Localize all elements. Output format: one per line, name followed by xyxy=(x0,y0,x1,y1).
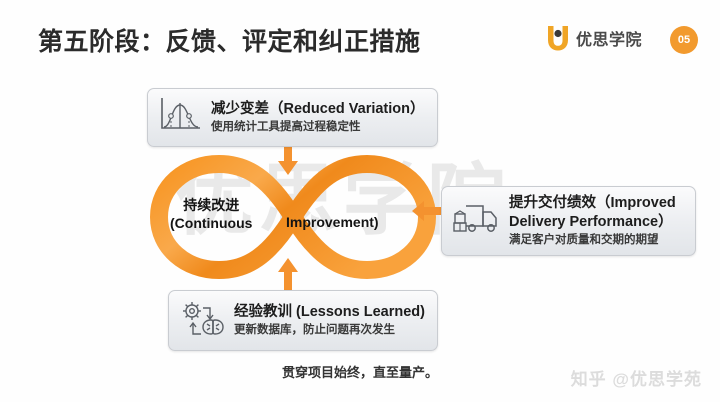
info-box-lessons-learned[interactable]: 经验教训 (Lessons Learned) 更新数据库，防止问题再次发生 xyxy=(168,290,438,351)
info-box-title: 经验教训 (Lessons Learned) xyxy=(234,303,425,322)
page-title: 第五阶段：反馈、评定和纠正措施 xyxy=(38,22,421,58)
u-shield-logo-icon xyxy=(545,24,571,52)
infinity-label-left: 持续改进 (Continuous xyxy=(170,197,252,232)
brand-logo: 优思学院 xyxy=(545,24,642,52)
page-number-badge: 05 xyxy=(670,26,698,54)
bell-curve-chart-icon xyxy=(158,96,202,139)
info-box-title: 提升交付绩效（Improved Delivery Performance） xyxy=(509,194,683,231)
gear-brain-icon xyxy=(179,298,225,343)
info-box-subtitle: 更新数据库，防止问题再次发生 xyxy=(234,323,425,338)
zhihu-watermark: 知乎 @优思学苑 xyxy=(571,365,702,390)
info-box-subtitle: 使用统计工具提高过程稳定性 xyxy=(211,120,425,135)
info-box-title: 减少变差（Reduced Variation） xyxy=(211,100,425,119)
delivery-truck-icon xyxy=(452,198,500,243)
infinity-label-right: Improvement) xyxy=(286,214,379,232)
info-box-subtitle: 满足客户对质量和交期的期望 xyxy=(509,233,683,248)
arrow-left-icon xyxy=(411,200,443,227)
info-box-reduced-variation[interactable]: 减少变差（Reduced Variation） 使用统计工具提高过程稳定性 xyxy=(147,88,438,147)
infinity-label-left-line2: (Continuous xyxy=(170,215,252,233)
slide-canvas: 优思学院 第五阶段：反馈、评定和纠正措施 优思学院 05 xyxy=(0,0,720,402)
info-box-improved-delivery[interactable]: 提升交付绩效（Improved Delivery Performance） 满足… xyxy=(441,186,696,256)
brand-name: 优思学院 xyxy=(576,26,642,50)
infinity-label-left-line1: 持续改进 xyxy=(170,197,252,215)
